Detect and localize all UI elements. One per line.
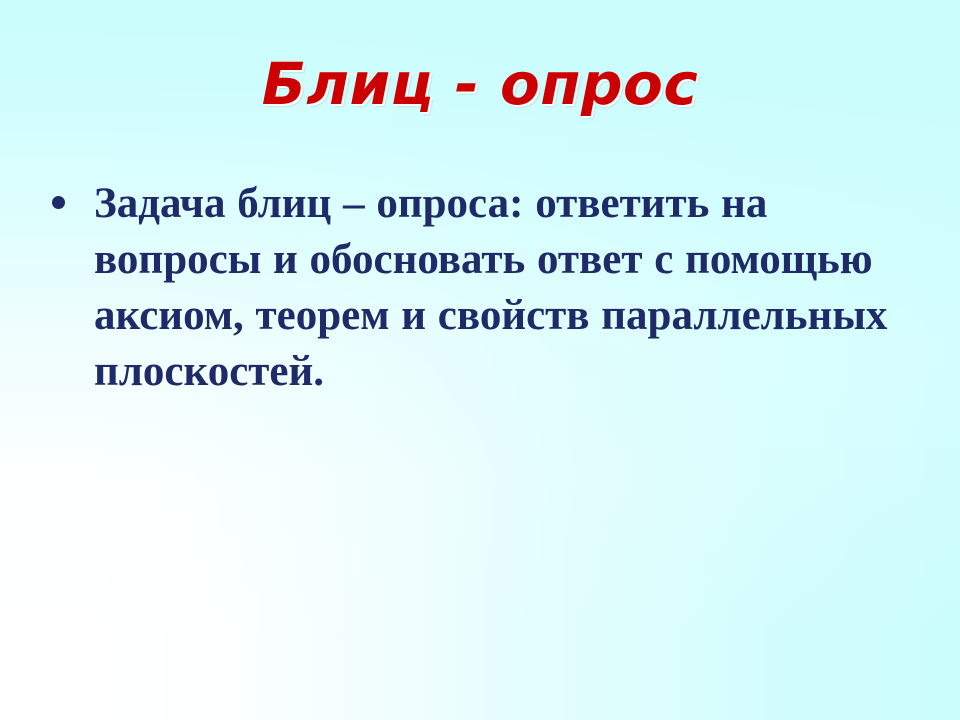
bullet-dot-icon bbox=[52, 196, 65, 209]
slide-title: Блиц - опрос bbox=[0, 52, 960, 116]
presentation-slide: Блиц - опрос Задача блиц – опроса: ответ… bbox=[0, 0, 960, 720]
bullet-marker bbox=[52, 176, 94, 214]
slide-body: Задача блиц – опроса: ответить на вопрос… bbox=[52, 176, 908, 400]
bullet-text: Задача блиц – опроса: ответить на вопрос… bbox=[94, 176, 908, 400]
list-item: Задача блиц – опроса: ответить на вопрос… bbox=[52, 176, 908, 400]
